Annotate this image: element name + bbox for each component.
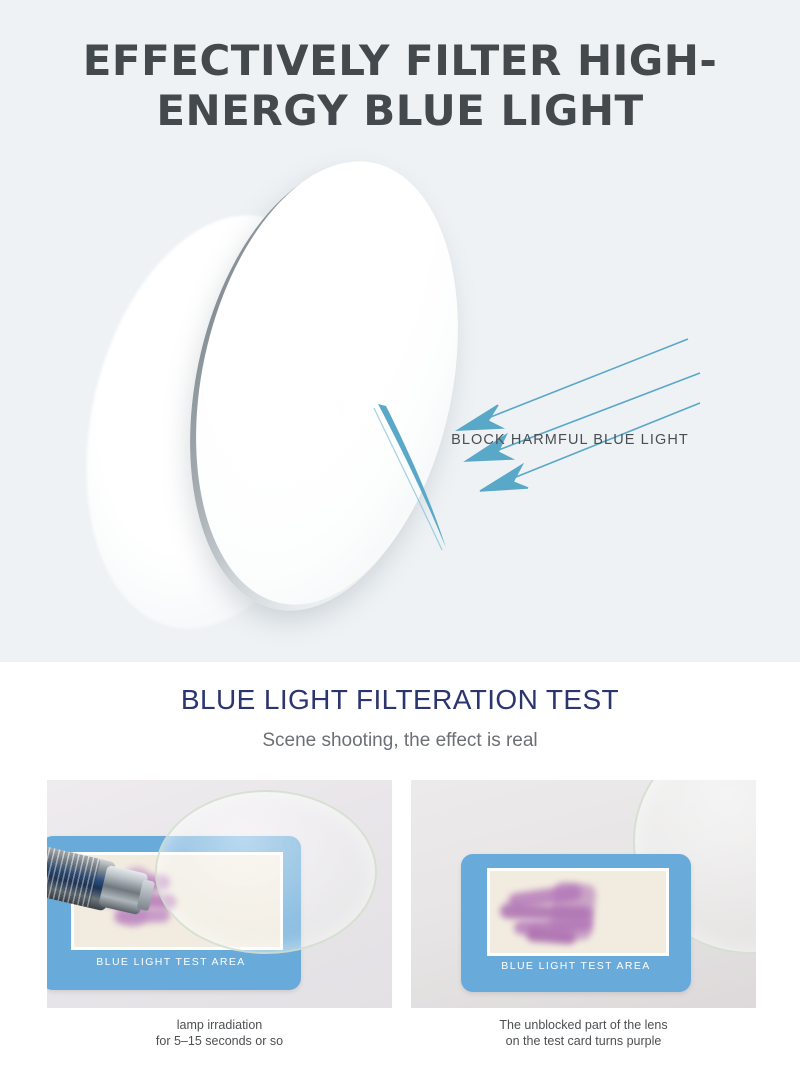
test-photo-left: BLUE LIGHT TEST AREA	[47, 780, 392, 1008]
transparent-lens	[155, 790, 377, 954]
block-blue-light-label: BLOCK HARMFUL BLUE LIGHT	[400, 432, 740, 448]
lens-illustration	[0, 140, 800, 660]
blue-test-card: BLUE LIGHT TEST AREA	[461, 854, 691, 992]
test-photo-right: BLUE LIGHT TEST AREA	[411, 780, 756, 1008]
test-section-subtitle: Scene shooting, the effect is real	[0, 730, 800, 752]
test-photo-row: BLUE LIGHT TEST AREA	[0, 780, 800, 1010]
test-card-label: BLUE LIGHT TEST AREA	[47, 956, 301, 968]
page-title: EFFECTIVELY FILTER HIGH-ENERGY BLUE LIGH…	[0, 36, 800, 135]
photo-caption-left: lamp irradiation for 5–15 seconds or so	[47, 1018, 392, 1049]
photo-caption-right: The unblocked part of the lens on the te…	[411, 1018, 756, 1049]
uv-stain	[549, 881, 597, 941]
test-card-window	[487, 868, 669, 956]
filtration-test-section: BLUE LIGHT FILTERATION TEST Scene shooti…	[0, 662, 800, 1066]
hero-section: EFFECTIVELY FILTER HIGH-ENERGY BLUE LIGH…	[0, 0, 800, 662]
test-card-label: BLUE LIGHT TEST AREA	[461, 960, 691, 972]
test-section-title: BLUE LIGHT FILTERATION TEST	[0, 684, 800, 716]
